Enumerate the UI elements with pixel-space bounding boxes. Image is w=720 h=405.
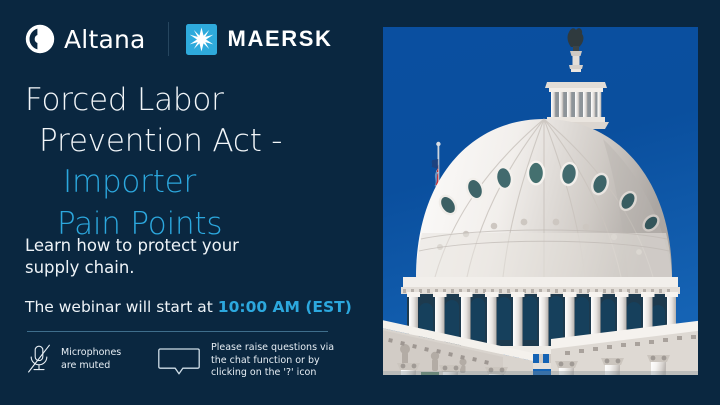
maersk-logo: MAERSK xyxy=(186,24,333,55)
microphone-muted-icon xyxy=(24,342,54,376)
webinar-title-slide: Altana MAERSK Forced Labor Prevention Ac… xyxy=(0,0,720,405)
logo-bar: Altana MAERSK xyxy=(25,22,332,56)
chat-note-line-3: clicking on the '?' icon xyxy=(211,367,347,380)
subtitle: Learn how to protect your supply chain. xyxy=(25,235,325,279)
logo-separator xyxy=(168,22,169,56)
capitol-building-photo xyxy=(383,27,698,375)
page-title: Forced Labor Prevention Act - Importer P… xyxy=(25,80,355,245)
webinar-start-time: 10:00 AM (EST) xyxy=(218,298,352,316)
microphone-note-text: Microphones are muted xyxy=(61,347,133,372)
chat-note-text: Please raise questions via the chat func… xyxy=(211,342,347,380)
altana-circle-icon xyxy=(25,24,55,54)
webinar-start-prefix: The webinar will start at xyxy=(25,298,218,316)
microphone-note-group: Microphones are muted xyxy=(24,342,133,376)
chat-note-line-1: Please raise questions via xyxy=(211,342,347,355)
microphone-note-line-1: Microphones xyxy=(61,347,133,360)
chat-bubble-icon xyxy=(157,342,201,378)
footer-divider xyxy=(27,331,328,332)
headline-line-1: Forced Labor xyxy=(25,80,355,121)
altana-logo: Altana xyxy=(25,24,146,54)
headline-line-2: Prevention Act - xyxy=(25,121,355,162)
headline-line-3: Importer xyxy=(25,162,355,203)
webinar-start-notice: The webinar will start at 10:00 AM (EST) xyxy=(25,298,352,316)
chat-note-line-2: the chat function or by xyxy=(211,355,347,368)
chat-note-group: Please raise questions via the chat func… xyxy=(157,342,347,380)
microphone-note-line-2: are muted xyxy=(61,360,133,373)
maersk-star-icon xyxy=(186,24,217,55)
subtitle-line-2: supply chain. xyxy=(25,257,325,279)
footer-notes: Microphones are muted Please raise quest… xyxy=(24,342,344,394)
subtitle-line-1: Learn how to protect your xyxy=(25,235,325,257)
maersk-wordmark: MAERSK xyxy=(228,28,333,50)
altana-wordmark: Altana xyxy=(64,27,146,52)
